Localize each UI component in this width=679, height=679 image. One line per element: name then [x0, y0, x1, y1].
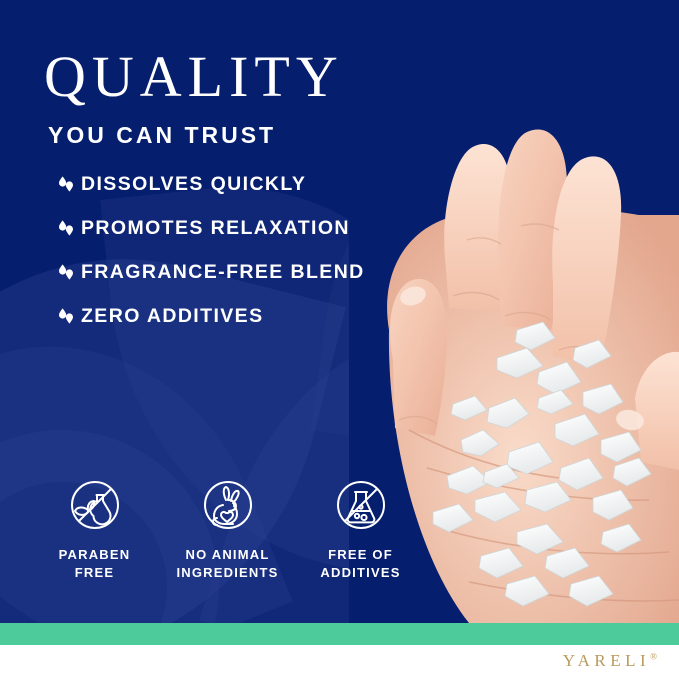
- product-infographic-image: QUALITY YOU CAN TRUST DISSOLVES QUICKLY: [0, 0, 679, 679]
- feature-label: DISSOLVES QUICKLY: [81, 173, 306, 196]
- trust-badge: FREE OF ADDITIVES: [294, 474, 427, 581]
- navy-hero-panel: QUALITY YOU CAN TRUST DISSOLVES QUICKLY: [0, 0, 679, 623]
- trust-badge-label-line1: NO ANIMAL: [161, 546, 294, 564]
- trust-badge-label: PARABEN FREE: [28, 546, 161, 581]
- trust-badge-label-line1: PARABEN: [28, 546, 161, 564]
- page-subtitle: YOU CAN TRUST: [48, 122, 344, 149]
- trust-badge-label: FREE OF ADDITIVES: [294, 546, 427, 581]
- trust-badge-label-line2: ADDITIVES: [294, 564, 427, 582]
- no-additives-flask-icon: [330, 474, 392, 536]
- feature-item: ZERO ADDITIVES: [56, 294, 365, 338]
- feature-item: DISSOLVES QUICKLY: [56, 162, 365, 206]
- trust-badge: NO ANIMAL INGREDIENTS: [161, 474, 294, 581]
- droplets-bullet-icon: [56, 174, 76, 194]
- feature-label: ZERO ADDITIVES: [81, 305, 263, 328]
- feature-item: FRAGRANCE-FREE BLEND: [56, 250, 365, 294]
- trust-badge-label-line1: FREE OF: [294, 546, 427, 564]
- teal-divider-bar: [0, 623, 679, 645]
- feature-list: DISSOLVES QUICKLY PROMOTES RELAXATION: [56, 162, 365, 338]
- droplets-bullet-icon: [56, 306, 76, 326]
- footer-bar: YARELI®: [0, 645, 679, 679]
- heading-block: QUALITY YOU CAN TRUST: [44, 48, 344, 149]
- trust-badge: PARABEN FREE: [28, 474, 161, 581]
- feature-label: FRAGRANCE-FREE BLEND: [81, 261, 365, 284]
- rabbit-heart-cruelty-free-icon: [197, 474, 259, 536]
- brand-logo: YARELI®: [563, 651, 657, 671]
- droplets-bullet-icon: [56, 218, 76, 238]
- no-paraben-flask-leaf-icon: [64, 474, 126, 536]
- feature-label: PROMOTES RELAXATION: [81, 217, 350, 240]
- trust-badge-label: NO ANIMAL INGREDIENTS: [161, 546, 294, 581]
- droplets-bullet-icon: [56, 262, 76, 282]
- brand-name: YARELI: [563, 651, 650, 670]
- trust-badge-row: PARABEN FREE: [28, 474, 428, 581]
- registered-trademark-icon: ®: [650, 651, 657, 661]
- trust-badge-label-line2: INGREDIENTS: [161, 564, 294, 582]
- trust-badge-label-line2: FREE: [28, 564, 161, 582]
- feature-item: PROMOTES RELAXATION: [56, 206, 365, 250]
- page-title: QUALITY: [44, 48, 344, 106]
